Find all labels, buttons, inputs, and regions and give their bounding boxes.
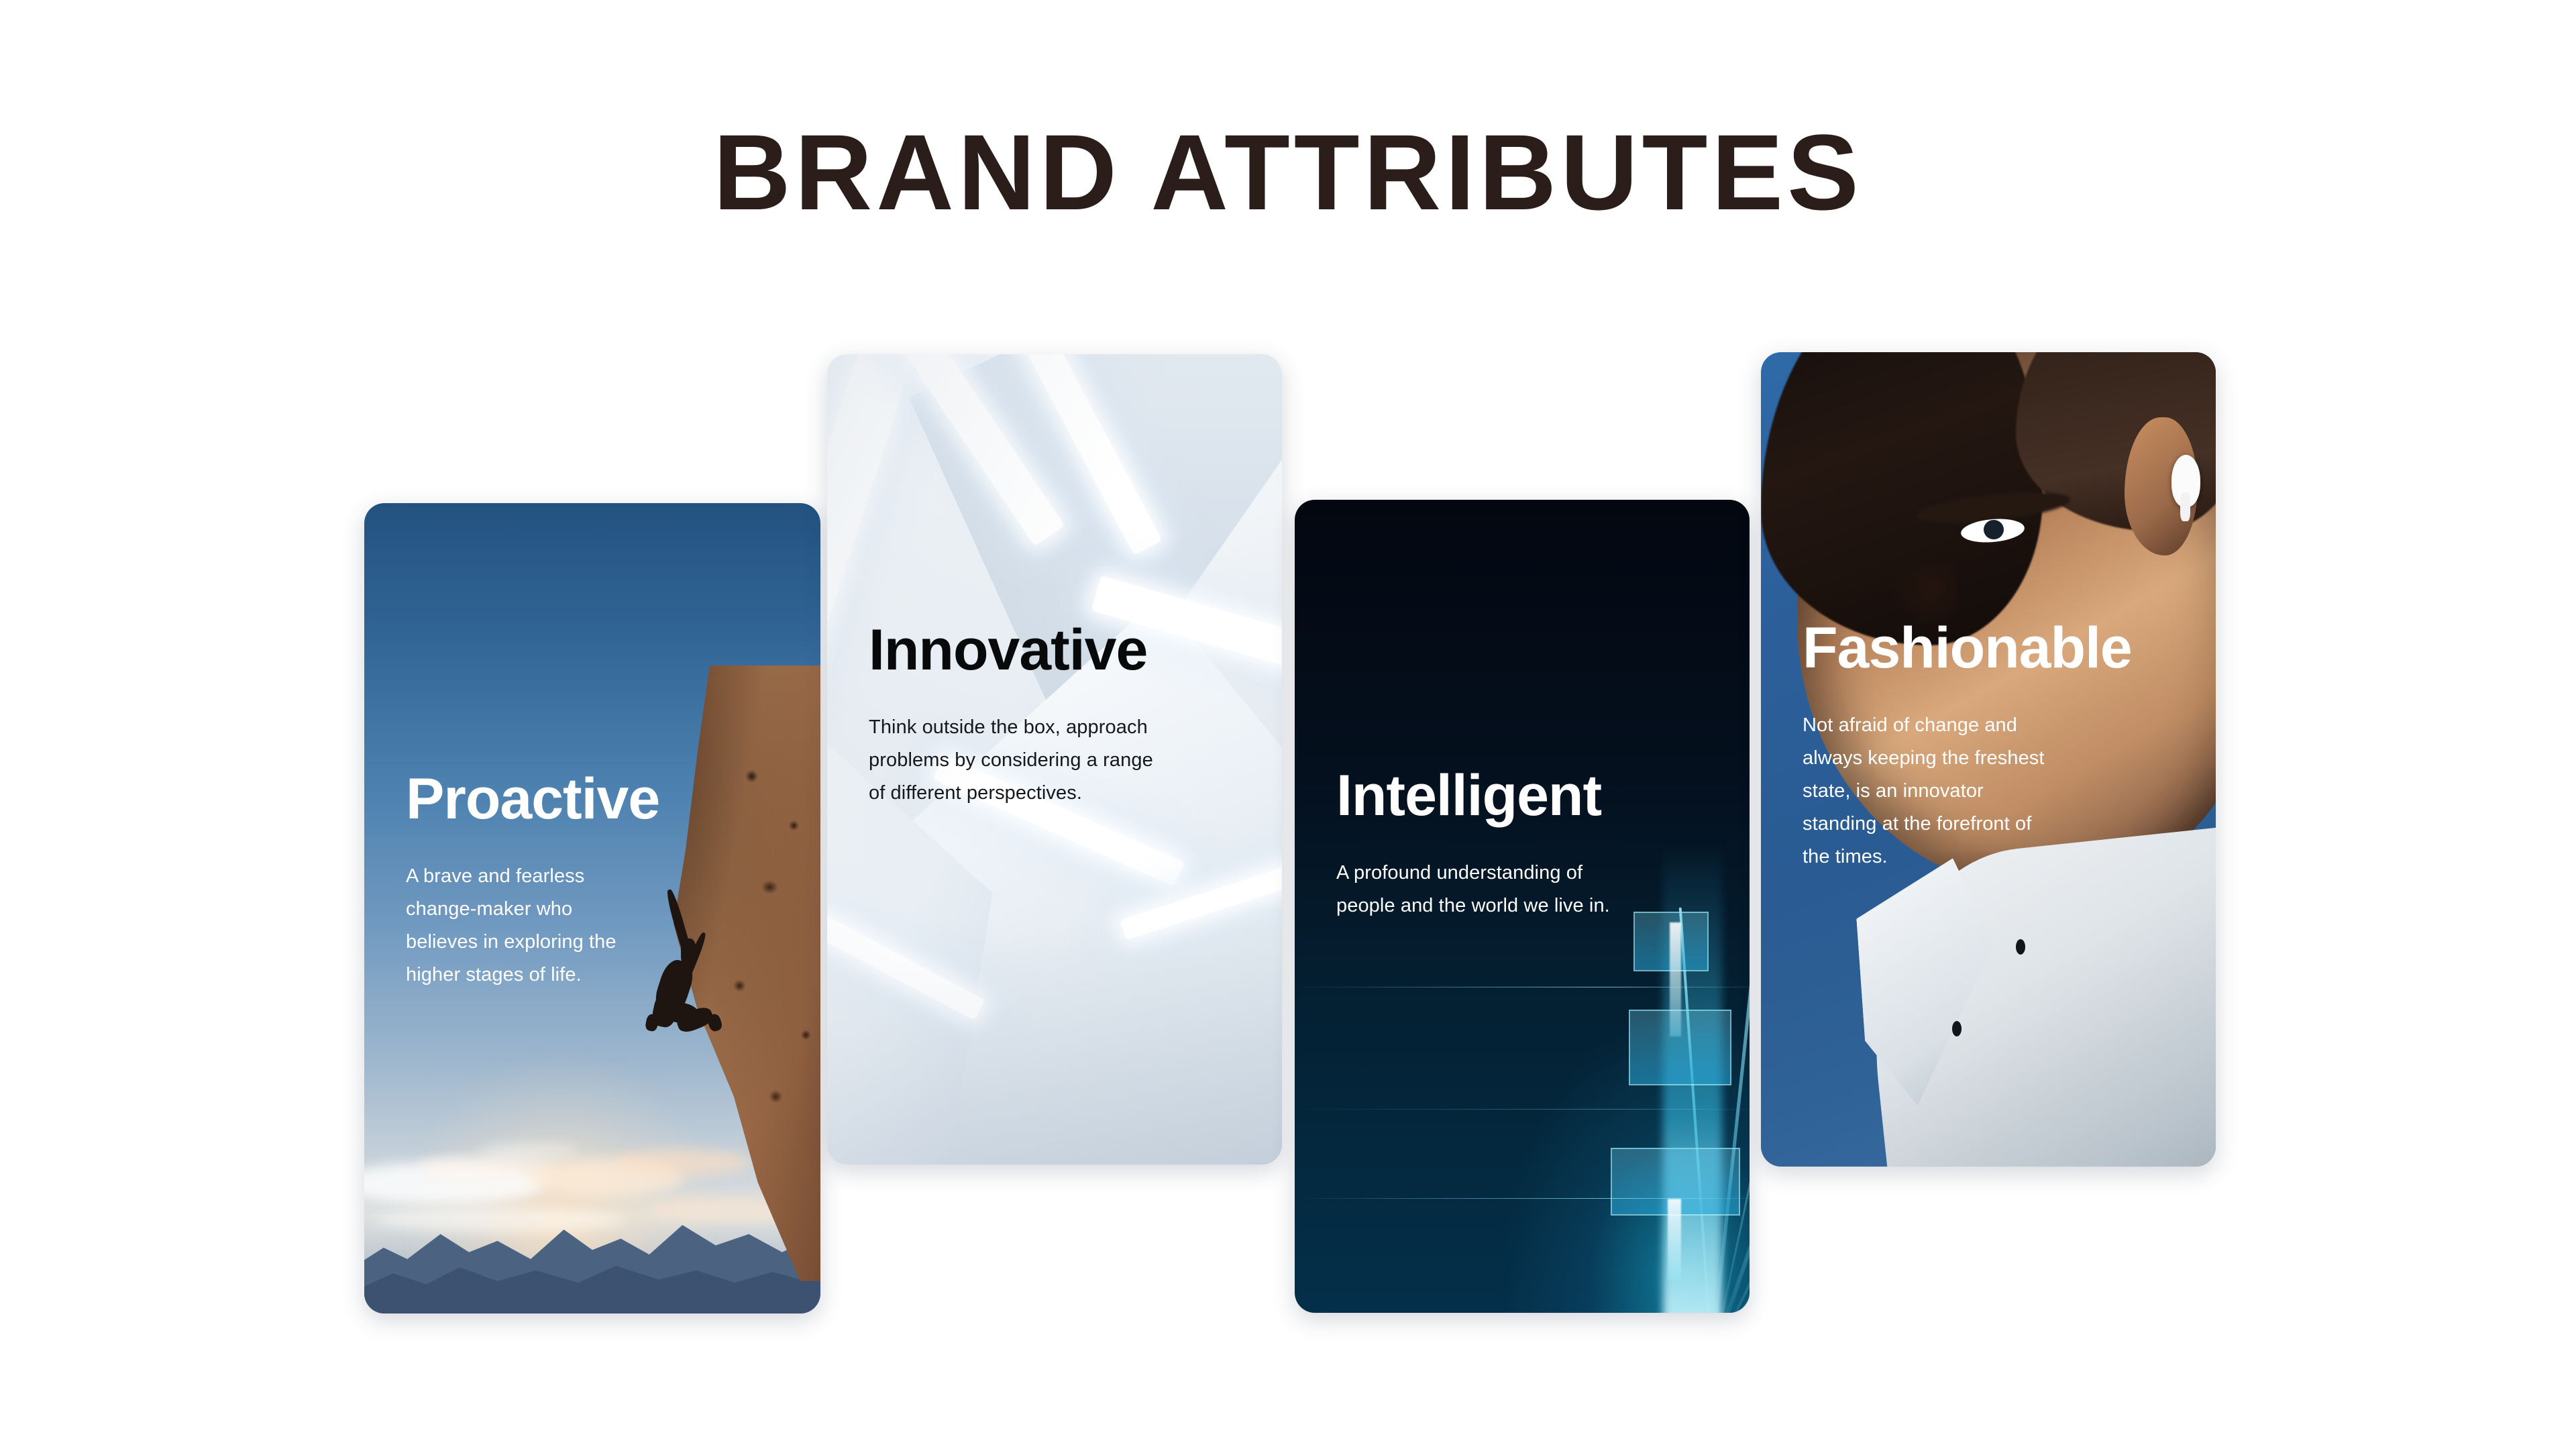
card-proactive[interactable]: Proactive A brave and fearless change-ma… [364, 503, 820, 1313]
wireless-earbud-icon [2171, 455, 2200, 507]
card-innovative-title: Innovative [869, 621, 1259, 679]
card-proactive-title: Proactive [406, 770, 798, 828]
card-innovative-body: Think outside the box, approach problems… [869, 711, 1259, 810]
card-proactive-body: A brave and fearless change-maker who be… [406, 860, 798, 991]
card-fashionable[interactable]: Fashionable Not afraid of change and alw… [1761, 352, 2216, 1167]
brand-attribute-cards: Proactive A brave and fearless change-ma… [0, 0, 2576, 1449]
card-innovative[interactable]: Innovative Think outside the box, approa… [827, 354, 1282, 1165]
card-fashionable-title: Fashionable [1803, 619, 2193, 677]
card-fashionable-body: Not afraid of change and always keeping … [1803, 709, 2193, 873]
card-intelligent-body: A profound understanding of people and t… [1336, 857, 1727, 922]
card-intelligent[interactable]: Intelligent A profound understanding of … [1295, 500, 1750, 1313]
card-intelligent-title: Intelligent [1336, 767, 1727, 824]
